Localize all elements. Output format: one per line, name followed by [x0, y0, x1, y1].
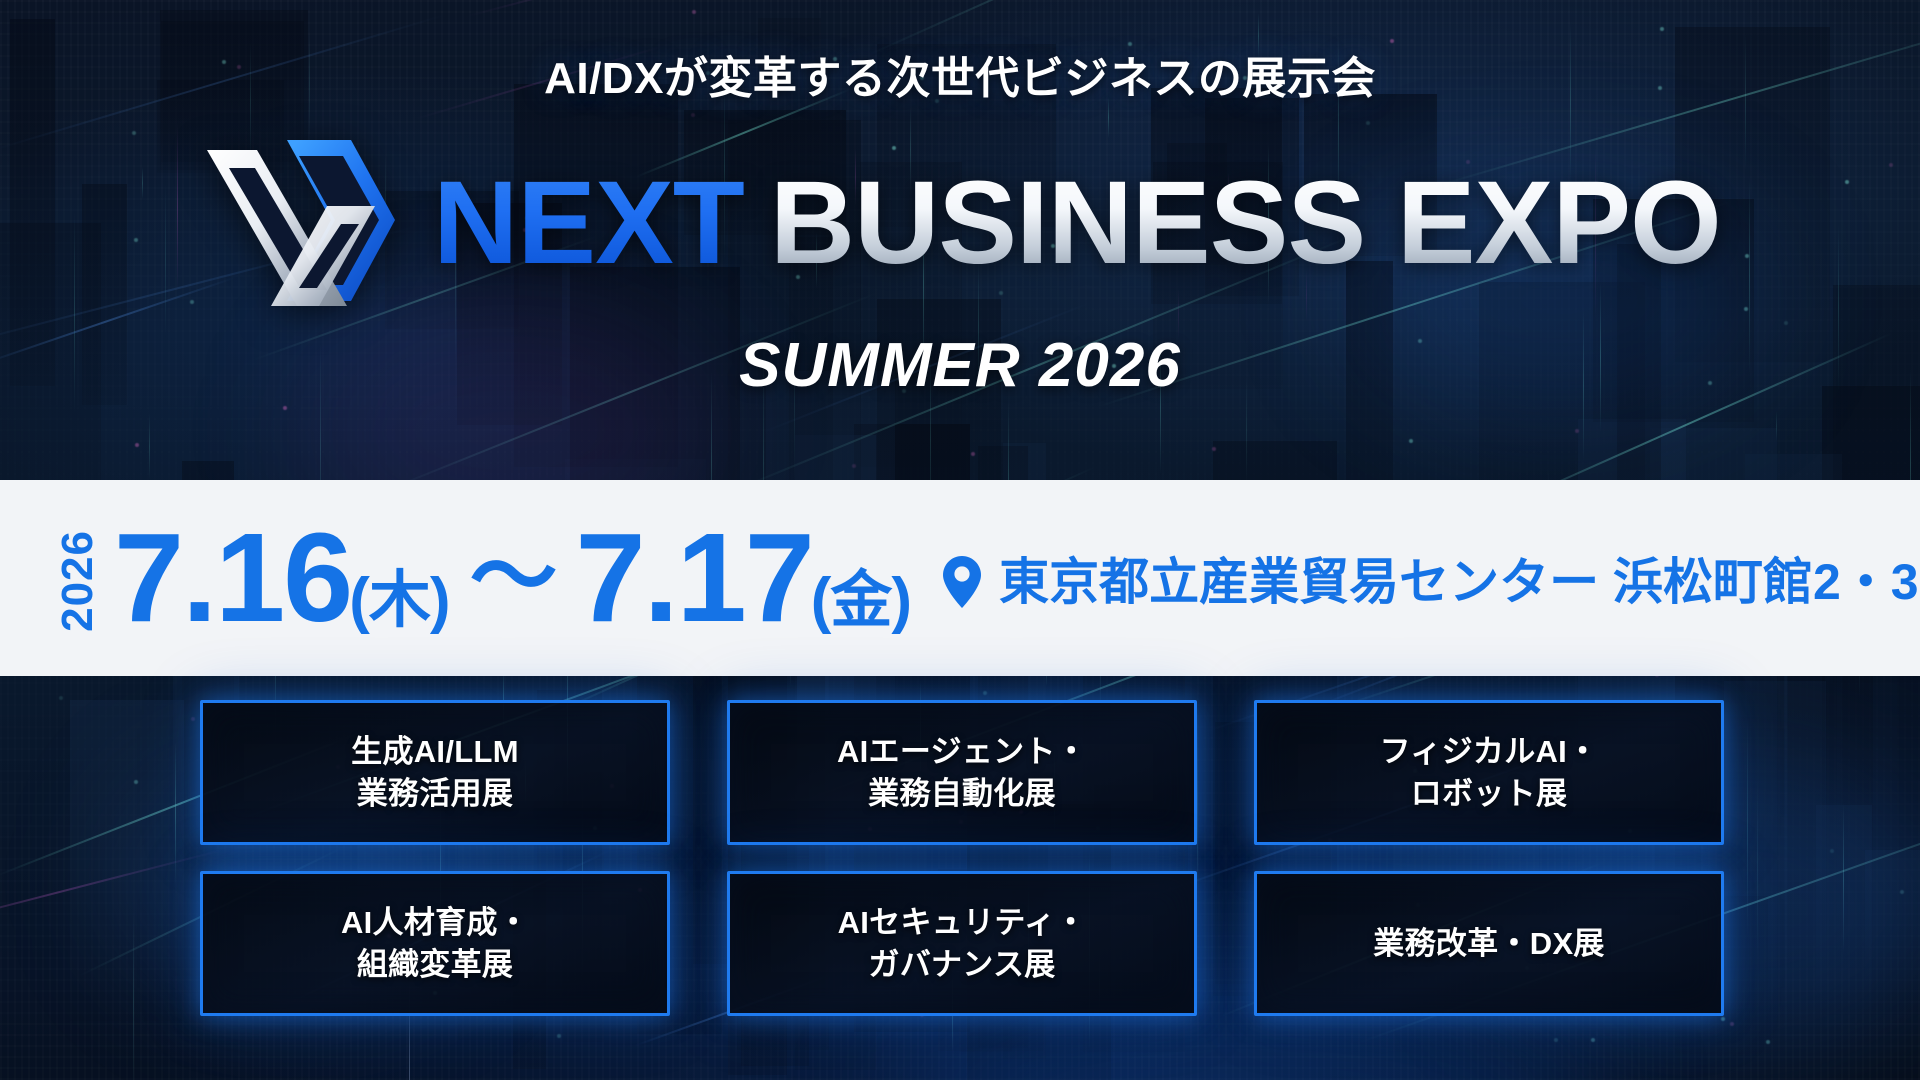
hero-section: AI/DXが変革する次世代ビジネスの展示会 — [0, 0, 1920, 480]
year-label: 2026 — [56, 530, 100, 632]
category-box[interactable]: AIエージェント・業務自動化展 — [727, 700, 1197, 845]
category-label-line2: ガバナンス展 — [838, 944, 1087, 985]
venue-label: 東京都立産業貿易センター 浜松町館2・3F南 — [999, 542, 1920, 614]
next-business-expo-chevron-logo — [199, 128, 399, 313]
category-label-line2: ロボット展 — [1380, 773, 1599, 814]
wordmark-accent: NEXT — [433, 164, 744, 282]
category-label-line1: AIエージェント・ — [837, 731, 1087, 772]
category-label-line1: フィジカルAI・ — [1380, 731, 1599, 772]
end-day-of-week: (金) — [811, 572, 911, 629]
start-date: 7.16 — [114, 520, 351, 636]
category-label: AI人材育成・組織変革展 — [341, 902, 529, 984]
wordmark-rest: BUSINESS EXPO — [770, 164, 1721, 282]
category-box[interactable]: AIセキュリティ・ガバナンス展 — [727, 871, 1197, 1016]
date-range-separator: ～ — [470, 533, 556, 621]
category-box[interactable]: AI人材育成・組織変革展 — [200, 871, 670, 1016]
category-label: フィジカルAI・ロボット展 — [1380, 731, 1599, 813]
category-label: 業務改革・DX展 — [1373, 923, 1604, 964]
date-range: 7.16 (木) ～ 7.17 (金) — [114, 520, 911, 636]
category-label-line1: AI人材育成・ — [341, 902, 529, 943]
category-label: AIセキュリティ・ガバナンス展 — [838, 902, 1087, 984]
promo-banner: AI/DXが変革する次世代ビジネスの展示会 — [0, 0, 1920, 1080]
hero-tagline: AI/DXが変革する次世代ビジネスの展示会 — [0, 42, 1920, 106]
category-label-line1: 業務改革・DX展 — [1373, 923, 1604, 964]
wordmark: NEXT BUSINESS EXPO — [433, 164, 1721, 282]
category-box[interactable]: フィジカルAI・ロボット展 — [1254, 700, 1724, 845]
category-label-line2: 業務自動化展 — [837, 773, 1087, 814]
category-label-line2: 業務活用展 — [351, 773, 519, 814]
category-grid: 生成AI/LLM業務活用展AIエージェント・業務自動化展フィジカルAI・ロボット… — [200, 700, 1730, 1016]
category-label: AIエージェント・業務自動化展 — [837, 731, 1087, 813]
category-label-line2: 組織変革展 — [341, 944, 529, 985]
category-label: 生成AI/LLM業務活用展 — [351, 731, 519, 813]
start-day-of-week: (木) — [349, 572, 449, 629]
end-date: 7.17 — [576, 520, 813, 636]
category-label-line1: AIセキュリティ・ — [838, 902, 1087, 943]
date-venue-band: 2026 7.16 (木) ～ 7.17 (金) 東京都立産業貿易センター 浜松… — [0, 480, 1920, 676]
logo-row: NEXT BUSINESS EXPO — [0, 128, 1920, 313]
edition-label: SUMMER 2026 — [0, 330, 1920, 401]
location-pin-icon — [941, 554, 983, 610]
category-box[interactable]: 生成AI/LLM業務活用展 — [200, 700, 670, 845]
category-label-line1: 生成AI/LLM — [351, 731, 519, 772]
category-box[interactable]: 業務改革・DX展 — [1254, 871, 1724, 1016]
